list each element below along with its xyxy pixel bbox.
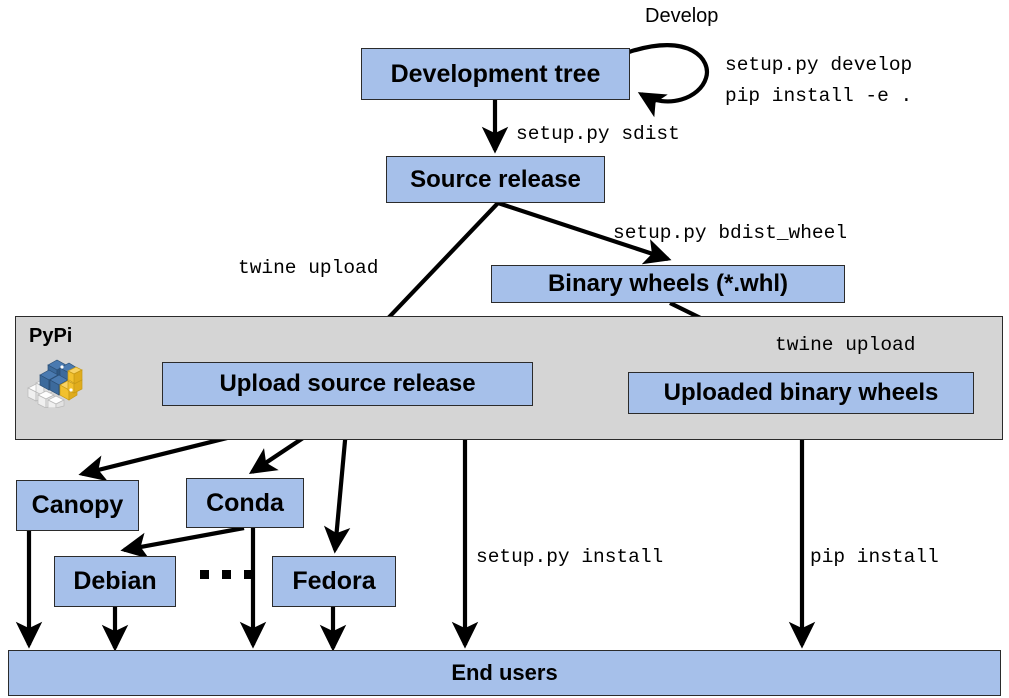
edge-label-twine-upload-wheels: twine upload: [775, 333, 915, 359]
node-fedora[interactable]: Fedora: [272, 556, 396, 607]
edge-label-setup-py-develop: setup.py develop: [725, 53, 912, 79]
node-end-users[interactable]: End users: [8, 650, 1001, 696]
node-conda[interactable]: Conda: [186, 478, 304, 528]
ellipsis-dot: [222, 570, 231, 579]
edge-develop-loop: [629, 45, 707, 101]
ellipsis-dot: [200, 570, 209, 579]
node-development-tree[interactable]: Development tree: [361, 48, 630, 100]
edge-conda-to-debian: [124, 528, 244, 550]
node-canopy[interactable]: Canopy: [16, 480, 139, 531]
node-source-release[interactable]: Source release: [386, 156, 605, 203]
edge-label-setup-py-install: setup.py install: [476, 545, 663, 571]
more-distros-ellipsis: [200, 570, 253, 579]
node-uploaded-binary-wheels[interactable]: Uploaded binary wheels: [628, 372, 974, 414]
node-binary-wheels[interactable]: Binary wheels (*.whl): [491, 265, 845, 303]
diagram-canvas: PyPi: [0, 0, 1009, 698]
edge-label-setup-py-sdist: setup.py sdist: [516, 122, 680, 148]
pypi-python-blocks-logo: [26, 354, 84, 408]
pypi-region-label: PyPi: [29, 325, 72, 348]
edge-label-twine-upload-source: twine upload: [238, 256, 378, 282]
edge-label-pip-install: pip install: [810, 545, 939, 571]
node-debian[interactable]: Debian: [54, 556, 176, 607]
edge-label-pip-install-editable: pip install -e .: [725, 84, 912, 110]
edge-label-setup-py-bdist-wheel: setup.py bdist_wheel: [613, 221, 847, 247]
node-upload-source-release[interactable]: Upload source release: [162, 362, 533, 406]
ellipsis-dot: [244, 570, 253, 579]
edge-label-develop: Develop: [645, 5, 718, 28]
